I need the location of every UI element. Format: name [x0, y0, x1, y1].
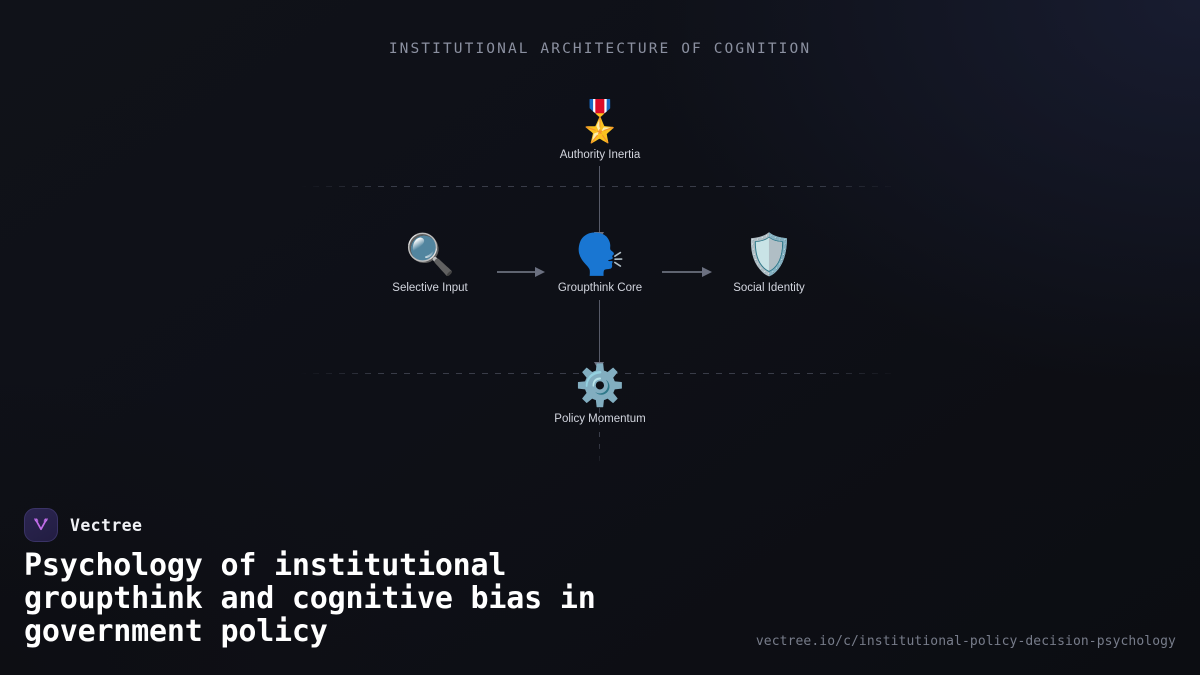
node-label: Selective Input — [340, 282, 520, 294]
vectree-branch-logo-icon — [24, 508, 58, 542]
edge-authority-to-groupthink — [599, 166, 600, 238]
share-card: INSTITUTIONAL ARCHITECTURE OF COGNITION … — [0, 0, 1200, 675]
speaking-head-icon: 🗣️ — [510, 231, 690, 279]
headline: Psychology of institutional groupthink a… — [24, 549, 764, 648]
share-url: vectree.io/c/institutional-policy-decisi… — [756, 634, 1176, 649]
node-label: Groupthink Core — [510, 282, 690, 294]
brand-name: Vectree — [70, 516, 142, 535]
gear-icon: ⚙️ — [510, 362, 690, 410]
node-groupthink-core[interactable]: 🗣️ Groupthink Core — [510, 231, 690, 294]
node-selective-input[interactable]: 🔍 Selective Input — [340, 231, 520, 294]
node-label: Authority Inertia — [510, 149, 690, 161]
shield-icon: 🛡️ — [679, 231, 859, 279]
node-label: Policy Momentum — [510, 413, 690, 425]
node-authority-inertia[interactable]: 🎖️ Authority Inertia — [510, 98, 690, 161]
military-medal-icon: 🎖️ — [510, 98, 690, 146]
node-label: Social Identity — [679, 282, 859, 294]
magnifying-glass-icon: 🔍 — [340, 231, 520, 279]
node-social-identity[interactable]: 🛡️ Social Identity — [679, 231, 859, 294]
node-policy-momentum[interactable]: ⚙️ Policy Momentum — [510, 362, 690, 425]
brand[interactable]: Vectree — [24, 508, 142, 542]
edge-groupthink-to-policy — [599, 300, 600, 368]
